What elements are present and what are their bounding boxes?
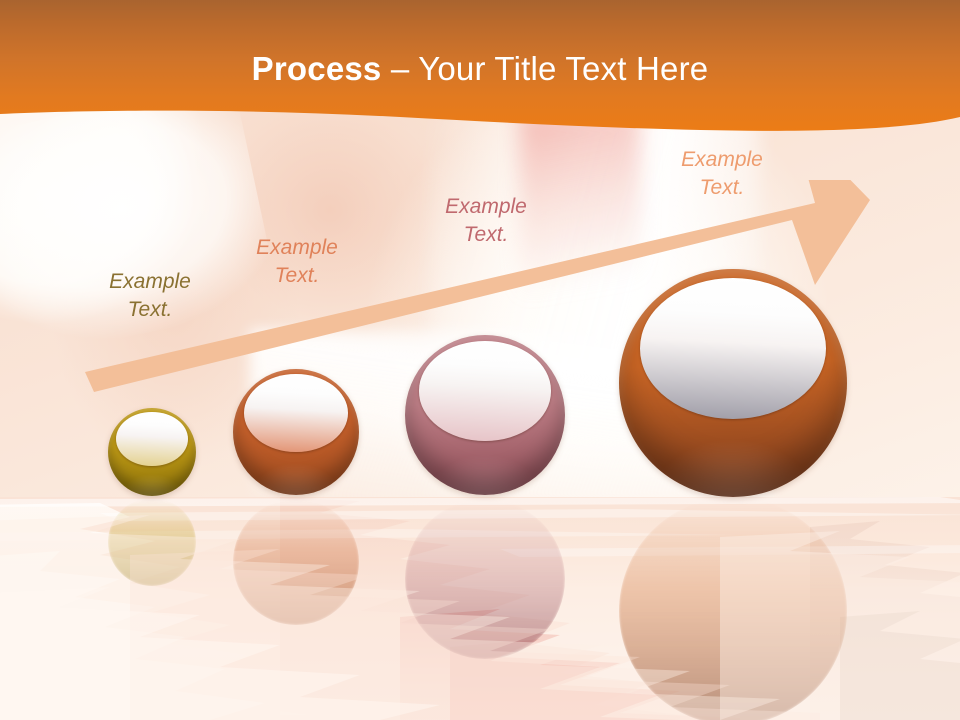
page-title: Process – Your Title Text Here bbox=[0, 49, 960, 89]
label-step-3[interactable]: ExampleText. bbox=[420, 193, 552, 249]
label-step-2[interactable]: ExampleText. bbox=[232, 234, 362, 290]
label-line-2: Text. bbox=[420, 221, 552, 249]
label-line-2: Text. bbox=[652, 174, 792, 202]
water-reflection bbox=[0, 497, 960, 720]
water-ripples-overlay bbox=[0, 497, 960, 720]
label-line-1: Example bbox=[85, 268, 215, 296]
page-title-rest: Your Title Text Here bbox=[418, 50, 708, 87]
page-title-bold: Process bbox=[252, 50, 382, 87]
water-ripples bbox=[0, 497, 960, 720]
label-line-2: Text. bbox=[232, 262, 362, 290]
label-line-2: Text. bbox=[85, 296, 215, 324]
sphere-reflection-1 bbox=[108, 498, 196, 586]
label-line-1: Example bbox=[652, 146, 792, 174]
sphere-step-1[interactable] bbox=[108, 408, 196, 496]
sphere-highlight bbox=[116, 412, 188, 467]
label-line-1: Example bbox=[232, 234, 362, 262]
slide-canvas: ExampleText.ExampleText.ExampleText.Exam… bbox=[0, 0, 960, 720]
sphere-reflection-3 bbox=[405, 499, 565, 659]
page-title-separator: – bbox=[381, 50, 418, 87]
title-band: Process – Your Title Text Here bbox=[0, 0, 960, 140]
label-step-1[interactable]: ExampleText. bbox=[85, 268, 215, 324]
sphere-reflection-4 bbox=[619, 497, 847, 720]
label-step-4[interactable]: ExampleText. bbox=[652, 146, 792, 202]
label-line-1: Example bbox=[420, 193, 552, 221]
sphere-reflection-2 bbox=[233, 499, 359, 625]
